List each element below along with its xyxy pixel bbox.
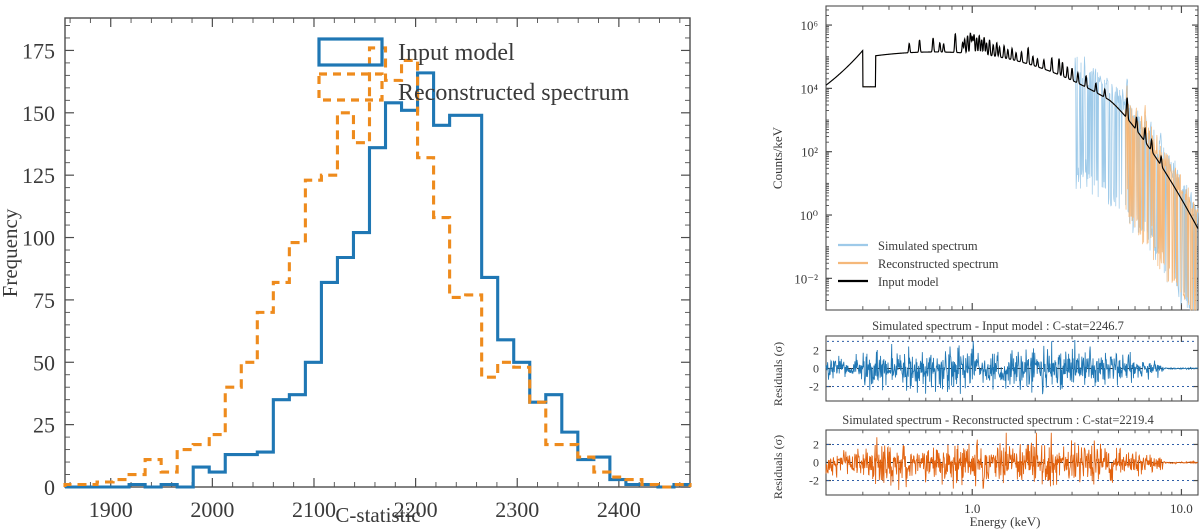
spectrum-y-tick-label: 10⁰ — [800, 208, 818, 223]
spectrum-y-tick-label: 10⁻² — [794, 271, 818, 286]
spectrum-panel: 10⁶10⁴10²10⁰10⁻²20-220-21.010.0 Counts/k… — [760, 0, 1200, 531]
figure-canvas: 1900200021002200230024000255075100125150… — [0, 0, 1200, 531]
spectrum-y-tick-label: 10² — [801, 145, 818, 160]
residual-y-tick-label: -2 — [809, 474, 819, 488]
y-tick-label: 25 — [33, 413, 55, 438]
histogram-y-axis-label: Frequency — [0, 208, 22, 297]
histogram-legend: Input model Reconstructed spectrum — [319, 39, 630, 106]
y-tick-label: 0 — [44, 475, 55, 500]
residual-y-tick-label: -2 — [809, 380, 819, 394]
histogram-series-reconstructed — [65, 48, 690, 487]
y-tick-label: 125 — [22, 163, 55, 188]
legend-label-input-model: Input model — [398, 40, 515, 66]
legend-label-reconstructed: Reconstructed spectrum — [398, 80, 630, 106]
y-tick-label: 75 — [33, 288, 55, 313]
residual-top-y-axis-label: Residuals (σ) — [771, 342, 785, 406]
energy-x-axis-label: Energy (keV) — [970, 514, 1041, 529]
residual-curve — [826, 340, 1198, 394]
spectrum-legend: Simulated spectrum Reconstructed spectru… — [838, 239, 999, 289]
residual-bottom-y-axis-label: Residuals (σ) — [771, 435, 785, 499]
histogram-curves — [65, 48, 690, 487]
legend-swatch-reconstructed — [319, 74, 382, 100]
y-tick-label: 50 — [33, 350, 55, 375]
residual-y-tick-label: 2 — [813, 437, 819, 451]
histogram-series-input-model — [65, 73, 690, 487]
x-tick-label: 2300 — [495, 497, 539, 522]
energy-tick-label: 10.0 — [1170, 501, 1193, 516]
cstat-histogram-panel: 1900200021002200230024000255075100125150… — [0, 0, 760, 531]
y-tick-label: 100 — [22, 226, 55, 251]
legend-label-reconstructed-spectrum: Reconstructed spectrum — [878, 257, 999, 271]
residual-bottom-title: Simulated spectrum - Reconstructed spect… — [842, 413, 1154, 427]
y-tick-label: 175 — [22, 38, 55, 63]
x-tick-label: 2000 — [190, 497, 234, 522]
x-tick-label: 2400 — [597, 497, 641, 522]
residual-y-tick-label: 0 — [813, 362, 819, 376]
x-tick-label: 1900 — [89, 497, 133, 522]
histogram-x-axis-label: C-statistic — [335, 503, 420, 527]
spectrum-y-tick-label: 10⁶ — [800, 18, 818, 33]
x-tick-label: 2100 — [292, 497, 336, 522]
legend-label-input-model-line: Input model — [878, 275, 939, 289]
histogram-tick-labels: 1900200021002200230024000255075100125150… — [22, 38, 641, 522]
legend-swatch-input-model — [319, 39, 382, 65]
residual-curve — [826, 433, 1198, 490]
residual-top-title: Simulated spectrum - Input model : C-sta… — [872, 319, 1124, 333]
residual-y-tick-label: 0 — [813, 456, 819, 470]
y-tick-label: 150 — [22, 101, 55, 126]
spectrum-y-axis-label: Counts/keV — [770, 126, 785, 189]
residual-y-tick-label: 2 — [813, 343, 819, 357]
spectrum-y-tick-label: 10⁴ — [800, 81, 818, 96]
legend-label-simulated-spectrum: Simulated spectrum — [878, 239, 978, 253]
